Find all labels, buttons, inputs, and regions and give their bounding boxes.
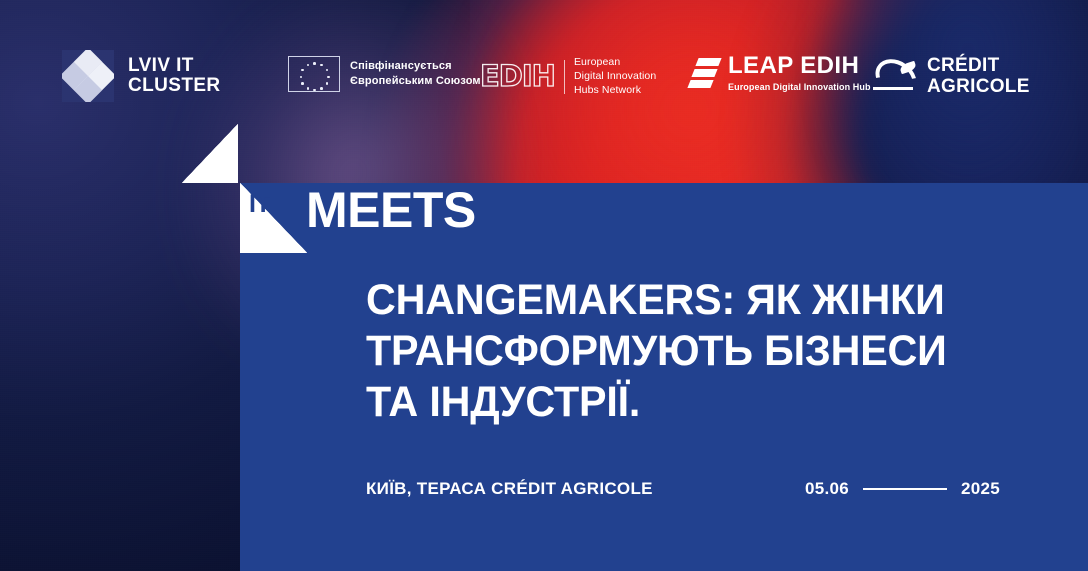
brand-it-label: IT — [249, 192, 270, 217]
eu-line-2: Європейським Союзом — [350, 74, 481, 89]
ca-line-1: CRÉDIT — [927, 56, 1030, 77]
sponsor-logo-bar: LVIV IT CLUSTER Співфінансується — [0, 46, 1088, 110]
leap-stairs-icon — [688, 56, 720, 90]
edih-line-3: Hubs Network — [574, 84, 656, 98]
edih-line-2: Digital Innovation — [574, 70, 656, 84]
sponsor-credit-agricole[interactable]: CRÉDIT AGRICOLE — [872, 56, 1030, 97]
it-meets-upper-triangle-icon — [182, 124, 238, 183]
lviv-line-2: CLUSTER — [128, 76, 221, 96]
event-date-day: 05.06 — [805, 479, 849, 499]
lviv-it-cluster-label: LVIV IT CLUSTER — [128, 56, 221, 97]
leap-subtitle: European Digital Innovation Hub — [728, 83, 871, 92]
eu-line-1: Співфінансується — [350, 59, 481, 74]
edih-wordmark-icon: EDIH — [480, 62, 555, 91]
headline-line-3: ТА ІНДУСТРІЇ. — [366, 377, 1000, 428]
page-title: CHANGEMAKERS: ЯК ЖІНКИ ТРАНСФОРМУЮТЬ БІЗ… — [366, 275, 1000, 428]
leap-title: LEAP EDIH — [728, 54, 871, 78]
sponsor-lviv-it-cluster[interactable]: LVIV IT CLUSTER — [62, 50, 221, 102]
venue-label: КИЇВ, ТЕРАСА CRÉDIT AGRICOLE — [366, 479, 653, 499]
edih-label: European Digital Innovation Hubs Network — [574, 56, 656, 98]
sponsor-edih[interactable]: EDIH European Digital Innovation Hubs Ne… — [480, 56, 656, 98]
brand-meets-label: MEETS — [306, 185, 476, 235]
event-poster: LVIV IT CLUSTER Співфінансується — [0, 0, 1088, 571]
event-date: 05.06 2025 — [805, 479, 1000, 499]
headline-line-1: CHANGEMAKERS: ЯК ЖІНКИ — [366, 275, 1000, 326]
edih-line-1: European — [574, 56, 656, 70]
eu-funding-label: Співфінансується Європейським Союзом — [350, 59, 481, 88]
eu-flag-icon — [288, 56, 340, 92]
event-date-year: 2025 — [961, 479, 1000, 499]
sponsor-european-union[interactable]: Співфінансується Європейським Союзом — [288, 56, 481, 92]
lviv-line-1: LVIV IT — [128, 56, 221, 76]
date-connector-line — [863, 488, 947, 490]
edih-divider — [564, 60, 565, 94]
credit-agricole-label: CRÉDIT AGRICOLE — [927, 56, 1030, 97]
ca-line-2: AGRICOLE — [927, 77, 1030, 98]
credit-agricole-ca-icon — [872, 60, 916, 94]
headline-line-2: ТРАНСФОРМУЮТЬ БІЗНЕСИ — [366, 326, 1000, 377]
lviv-it-cluster-diamond-icon — [62, 50, 114, 102]
sponsor-leap-edih[interactable]: LEAP EDIH European Digital Innovation Hu… — [688, 54, 871, 92]
